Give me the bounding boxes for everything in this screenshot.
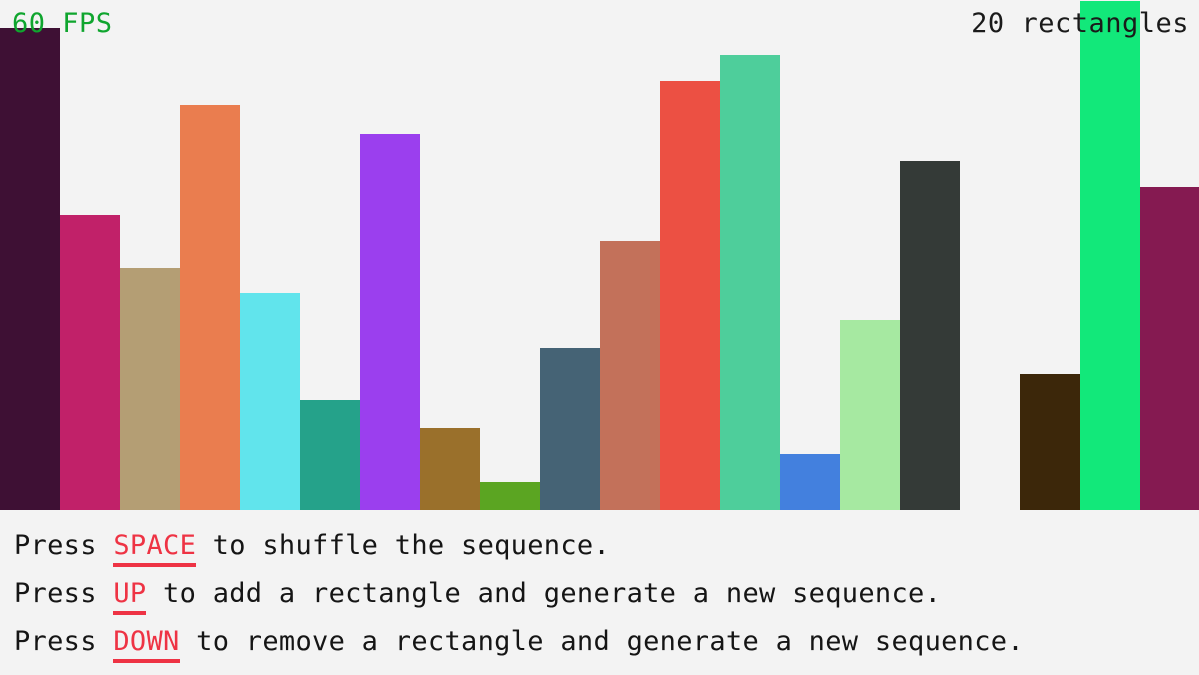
bar-rectangle xyxy=(1020,374,1080,510)
bar-rectangle xyxy=(1140,187,1199,510)
bar-rectangle xyxy=(240,293,300,510)
key-up[interactable]: UP xyxy=(113,578,146,615)
bar-rectangle xyxy=(60,215,120,510)
bar-rectangle xyxy=(360,134,420,510)
instruction-prefix: Press xyxy=(14,578,113,609)
bar-rectangle xyxy=(420,428,480,510)
bar-rectangle xyxy=(780,454,840,510)
instructions-panel: Press SPACE to shuffle the sequence. Pre… xyxy=(0,510,1199,675)
app-root: 60 FPS 20 rectangles Press SPACE to shuf… xyxy=(0,0,1199,675)
key-down[interactable]: DOWN xyxy=(113,626,179,663)
bar-rectangle xyxy=(840,320,900,510)
bar-rectangle xyxy=(180,105,240,510)
bar-rectangle xyxy=(540,348,600,510)
instruction-line-remove: Press DOWN to remove a rectangle and gen… xyxy=(14,628,1024,655)
instruction-line-add: Press UP to add a rectangle and generate… xyxy=(14,580,941,607)
bar-rectangle xyxy=(720,55,780,510)
instruction-line-shuffle: Press SPACE to shuffle the sequence. xyxy=(14,532,610,559)
bar-rectangle xyxy=(120,268,180,510)
bar-rectangle xyxy=(300,400,360,510)
rectangle-count-label: 20 rectangles xyxy=(971,10,1189,37)
bar-rectangle xyxy=(0,28,60,510)
bar-chart-canvas[interactable] xyxy=(0,0,1199,510)
instruction-suffix: to add a rectangle and generate a new se… xyxy=(146,578,941,609)
bar-rectangle xyxy=(1080,1,1140,510)
instruction-suffix: to shuffle the sequence. xyxy=(196,530,610,561)
fps-counter: 60 FPS xyxy=(12,10,113,37)
bar-rectangle xyxy=(900,161,960,510)
bar-rectangle xyxy=(660,81,720,510)
bar-rectangle xyxy=(600,241,660,510)
instruction-prefix: Press xyxy=(14,626,113,657)
instruction-prefix: Press xyxy=(14,530,113,561)
key-space[interactable]: SPACE xyxy=(113,530,196,567)
bar-rectangle xyxy=(480,482,540,510)
instruction-suffix: to remove a rectangle and generate a new… xyxy=(180,626,1024,657)
